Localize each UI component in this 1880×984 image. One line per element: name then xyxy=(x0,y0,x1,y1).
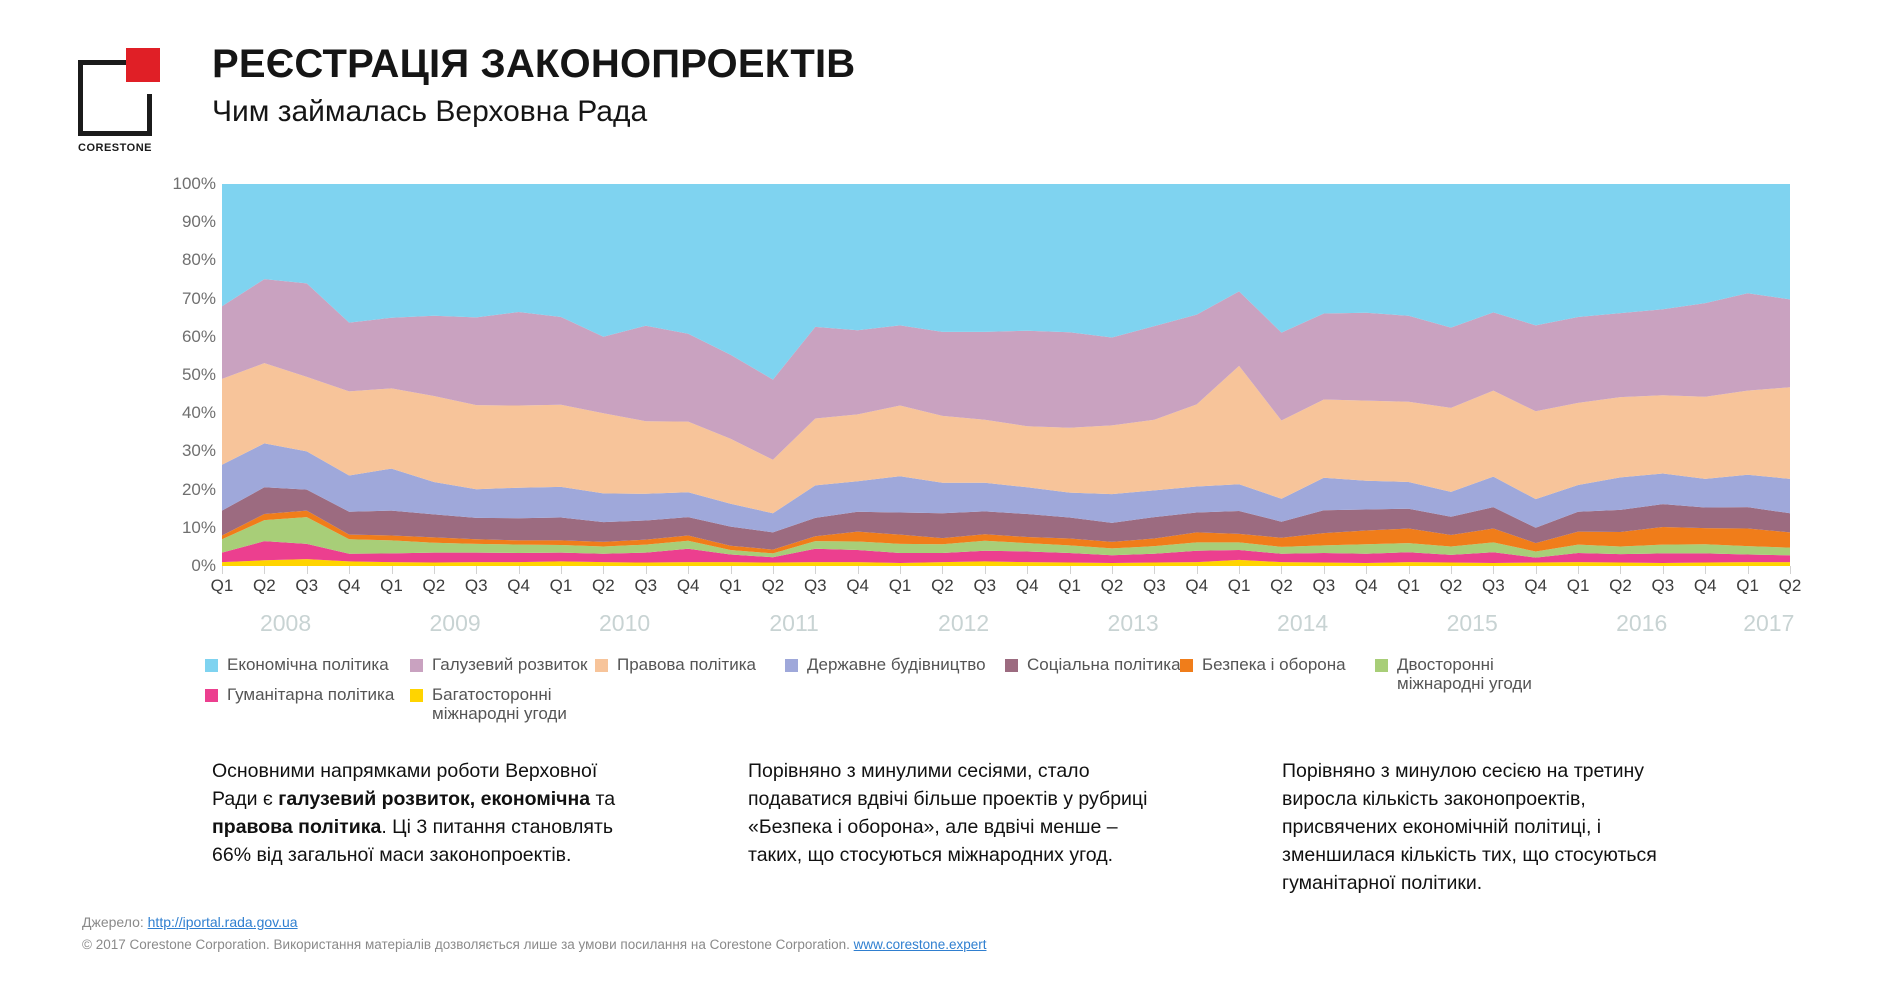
note-emphasis: правова політика xyxy=(212,816,381,838)
x-axis-tick xyxy=(985,566,986,574)
note-paragraph: Основними напрямками роботи Верховної Ра… xyxy=(212,757,627,869)
site-link[interactable]: www.corestone.expert xyxy=(854,937,987,952)
x-axis-tick xyxy=(1154,566,1155,574)
y-axis-tick-label: 20% xyxy=(182,480,216,500)
x-axis-quarter-label: Q4 xyxy=(507,576,530,596)
x-axis-year-label: 2013 xyxy=(1108,610,1159,637)
x-axis-tick xyxy=(307,566,308,574)
y-axis-tick-label: 40% xyxy=(182,403,216,423)
legend-label: Багатосторонні міжнародні угоди xyxy=(432,685,567,723)
commentary-notes: Основними напрямками роботи Верховної Ра… xyxy=(0,757,1880,877)
x-axis-year-label: 2014 xyxy=(1277,610,1328,637)
legend-label: Двосторонні міжнародні угоди xyxy=(1397,655,1532,693)
x-axis-year-label: 2015 xyxy=(1447,610,1498,637)
x-axis-tick xyxy=(1324,566,1325,574)
x-axis-tick xyxy=(900,566,901,574)
x-axis-tick xyxy=(1112,566,1113,574)
legend-label: Економічна політика xyxy=(227,655,389,674)
legend-swatch-icon xyxy=(1375,659,1388,672)
legend-item[interactable]: Багатосторонні міжнародні угоди xyxy=(410,685,567,723)
x-axis-year-labels: 2008200920102011201220132014201520162017 xyxy=(222,610,1790,646)
legend-label: Гуманітарна політика xyxy=(227,685,394,704)
chart-plot-area xyxy=(222,184,1790,566)
x-axis-tick xyxy=(1451,566,1452,574)
logo-right-stroke xyxy=(147,94,152,136)
x-axis-tick xyxy=(264,566,265,574)
x-axis-year-label: 2010 xyxy=(599,610,650,637)
x-axis-quarter-label: Q4 xyxy=(1185,576,1208,596)
x-axis-quarter-label: Q1 xyxy=(889,576,912,596)
x-axis-quarter-label: Q2 xyxy=(423,576,446,596)
x-axis-quarter-label: Q1 xyxy=(550,576,573,596)
x-axis-quarter-label: Q1 xyxy=(1058,576,1081,596)
x-axis-quarter-label: Q3 xyxy=(634,576,657,596)
x-axis-quarter-label: Q3 xyxy=(1312,576,1335,596)
header: CORESTONE РЕЄСТРАЦІЯ ЗАКОНОПРОЕКТІВ Чим … xyxy=(0,0,1880,170)
footer: Джерело: http://iportal.rada.gov.ua © 20… xyxy=(82,912,1782,955)
x-axis-tick xyxy=(1578,566,1579,574)
x-axis-tick xyxy=(1790,566,1791,574)
x-axis-quarter-label: Q2 xyxy=(1609,576,1632,596)
copyright-text: © 2017 Corestone Corporation. Використан… xyxy=(82,937,854,952)
source-link[interactable]: http://iportal.rada.gov.ua xyxy=(148,914,298,930)
legend-item[interactable]: Соціальна політика xyxy=(1005,655,1181,674)
legend-label: Галузевий розвиток xyxy=(432,655,587,674)
x-axis-quarter-label: Q2 xyxy=(1440,576,1463,596)
x-axis-quarter-label: Q1 xyxy=(1736,576,1759,596)
x-axis-tick xyxy=(392,566,393,574)
x-axis-year-label: 2008 xyxy=(260,610,311,637)
stacked-area-chart: 0%10%20%30%40%50%60%70%80%90%100% Q1Q2Q3… xyxy=(0,170,1880,640)
legend-swatch-icon xyxy=(205,659,218,672)
y-axis-tick-label: 30% xyxy=(182,441,216,461)
x-axis-tick xyxy=(1366,566,1367,574)
legend-item[interactable]: Двосторонні міжнародні угоди xyxy=(1375,655,1532,693)
chart-legend: Економічна політикаГалузевий розвитокПра… xyxy=(205,655,1805,723)
y-axis-tick-label: 70% xyxy=(182,289,216,309)
y-axis-labels: 0%10%20%30%40%50%60%70%80%90%100% xyxy=(150,170,216,580)
x-axis-tick xyxy=(942,566,943,574)
x-axis-tick xyxy=(1409,566,1410,574)
x-axis-tick xyxy=(1620,566,1621,574)
logo-red-square xyxy=(126,48,160,82)
x-axis-quarter-label: Q1 xyxy=(1567,576,1590,596)
y-axis-tick-label: 0% xyxy=(191,556,216,576)
x-axis-tick xyxy=(1705,566,1706,574)
x-axis-tick xyxy=(815,566,816,574)
page-title: РЕЄСТРАЦІЯ ЗАКОНОПРОЕКТІВ xyxy=(212,42,855,87)
x-axis-year-label: 2009 xyxy=(429,610,480,637)
x-axis-quarter-label: Q1 xyxy=(719,576,742,596)
x-axis-quarter-label: Q2 xyxy=(253,576,276,596)
x-axis-tick xyxy=(858,566,859,574)
x-axis-tick xyxy=(773,566,774,574)
source-label: Джерело: xyxy=(82,914,148,930)
x-axis-quarter-label: Q3 xyxy=(1652,576,1675,596)
x-axis-tick xyxy=(688,566,689,574)
x-axis-year-label: 2016 xyxy=(1616,610,1667,637)
x-axis-quarter-label: Q4 xyxy=(677,576,700,596)
legend-swatch-icon xyxy=(1005,659,1018,672)
legend-label: Соціальна політика xyxy=(1027,655,1181,674)
x-axis-quarter-label: Q3 xyxy=(1143,576,1166,596)
x-axis-tick xyxy=(434,566,435,574)
legend-item[interactable]: Гуманітарна політика xyxy=(205,685,394,704)
x-axis-year-label: 2012 xyxy=(938,610,989,637)
x-axis-quarter-label: Q4 xyxy=(846,576,869,596)
legend-swatch-icon xyxy=(205,689,218,702)
y-axis-tick-label: 90% xyxy=(182,212,216,232)
note-text: та xyxy=(590,788,615,810)
page-subtitle: Чим займалась Верховна Рада xyxy=(212,95,647,129)
copyright-line: © 2017 Corestone Corporation. Використан… xyxy=(82,935,1782,955)
x-axis-quarter-label: Q2 xyxy=(1101,576,1124,596)
x-axis-year-label: 2017 xyxy=(1743,610,1794,637)
y-axis-tick-label: 80% xyxy=(182,250,216,270)
x-axis-tick xyxy=(603,566,604,574)
x-axis-quarter-label: Q1 xyxy=(1228,576,1251,596)
x-axis-tick xyxy=(1281,566,1282,574)
x-axis-quarter-label: Q3 xyxy=(465,576,488,596)
x-axis-quarter-label: Q1 xyxy=(211,576,234,596)
x-axis-tick xyxy=(349,566,350,574)
x-axis-year-label: 2011 xyxy=(769,610,818,637)
x-axis-tick xyxy=(519,566,520,574)
x-axis-quarter-label: Q3 xyxy=(1482,576,1505,596)
x-axis-tick xyxy=(476,566,477,574)
legend-label: Правова політика xyxy=(617,655,756,674)
x-axis-tick xyxy=(731,566,732,574)
y-axis-tick-label: 50% xyxy=(182,365,216,385)
x-axis-quarter-label: Q4 xyxy=(1524,576,1547,596)
legend-label: Безпека і оборона xyxy=(1202,655,1346,674)
x-axis-quarter-label: Q2 xyxy=(762,576,785,596)
note-text: Порівняно з минулими сесіями, стало пода… xyxy=(748,760,1147,866)
legend-label: Державне будівництво xyxy=(807,655,986,674)
y-axis-tick-label: 100% xyxy=(173,174,216,194)
x-axis-tick xyxy=(1070,566,1071,574)
area-series-svg xyxy=(222,184,1790,566)
x-axis-ticks xyxy=(222,566,1790,574)
x-axis-tick xyxy=(646,566,647,574)
legend-swatch-icon xyxy=(785,659,798,672)
x-axis-tick xyxy=(561,566,562,574)
note-emphasis: галузевий розвиток, економічна xyxy=(278,788,590,810)
legend-item[interactable]: Державне будівництво xyxy=(785,655,986,674)
x-axis-quarter-label: Q3 xyxy=(804,576,827,596)
x-axis-tick xyxy=(1536,566,1537,574)
x-axis-quarter-label: Q1 xyxy=(1397,576,1420,596)
legend-swatch-icon xyxy=(1180,659,1193,672)
x-axis-quarter-label: Q4 xyxy=(1355,576,1378,596)
x-axis-quarter-label: Q2 xyxy=(592,576,615,596)
logo-wordmark: CORESTONE xyxy=(78,142,170,154)
x-axis-quarter-label: Q2 xyxy=(1779,576,1802,596)
note-paragraph: Порівняно з минулими сесіями, стало пода… xyxy=(748,757,1168,869)
x-axis-quarter-label: Q4 xyxy=(338,576,361,596)
x-axis-quarter-label: Q2 xyxy=(931,576,954,596)
x-axis-quarter-label: Q2 xyxy=(1270,576,1293,596)
source-line: Джерело: http://iportal.rada.gov.ua xyxy=(82,912,1782,932)
x-axis-quarter-label: Q4 xyxy=(1016,576,1039,596)
legend-item[interactable]: Безпека і оборона xyxy=(1180,655,1346,674)
y-axis-tick-label: 60% xyxy=(182,327,216,347)
legend-item[interactable]: Правова політика xyxy=(595,655,756,674)
legend-swatch-icon xyxy=(595,659,608,672)
legend-item[interactable]: Галузевий розвиток xyxy=(410,655,587,674)
x-axis-quarter-label: Q3 xyxy=(973,576,996,596)
x-axis-tick xyxy=(1197,566,1198,574)
legend-swatch-icon xyxy=(410,659,423,672)
corestone-logo: CORESTONE xyxy=(78,42,170,154)
x-axis-tick xyxy=(1663,566,1664,574)
note-paragraph: Порівняно з минулою сесією на третину ви… xyxy=(1282,757,1702,897)
x-axis-tick xyxy=(1239,566,1240,574)
x-axis-tick xyxy=(1493,566,1494,574)
legend-item[interactable]: Економічна політика xyxy=(205,655,389,674)
y-axis-tick-label: 10% xyxy=(182,518,216,538)
x-axis-quarter-labels: Q1Q2Q3Q4Q1Q2Q3Q4Q1Q2Q3Q4Q1Q2Q3Q4Q1Q2Q3Q4… xyxy=(222,576,1790,606)
x-axis-quarter-label: Q3 xyxy=(295,576,318,596)
x-axis-tick xyxy=(1748,566,1749,574)
note-text: Порівняно з минулою сесією на третину ви… xyxy=(1282,760,1657,894)
legend-swatch-icon xyxy=(410,689,423,702)
x-axis-tick xyxy=(222,566,223,574)
x-axis-quarter-label: Q4 xyxy=(1694,576,1717,596)
x-axis-quarter-label: Q1 xyxy=(380,576,403,596)
x-axis-tick xyxy=(1027,566,1028,574)
